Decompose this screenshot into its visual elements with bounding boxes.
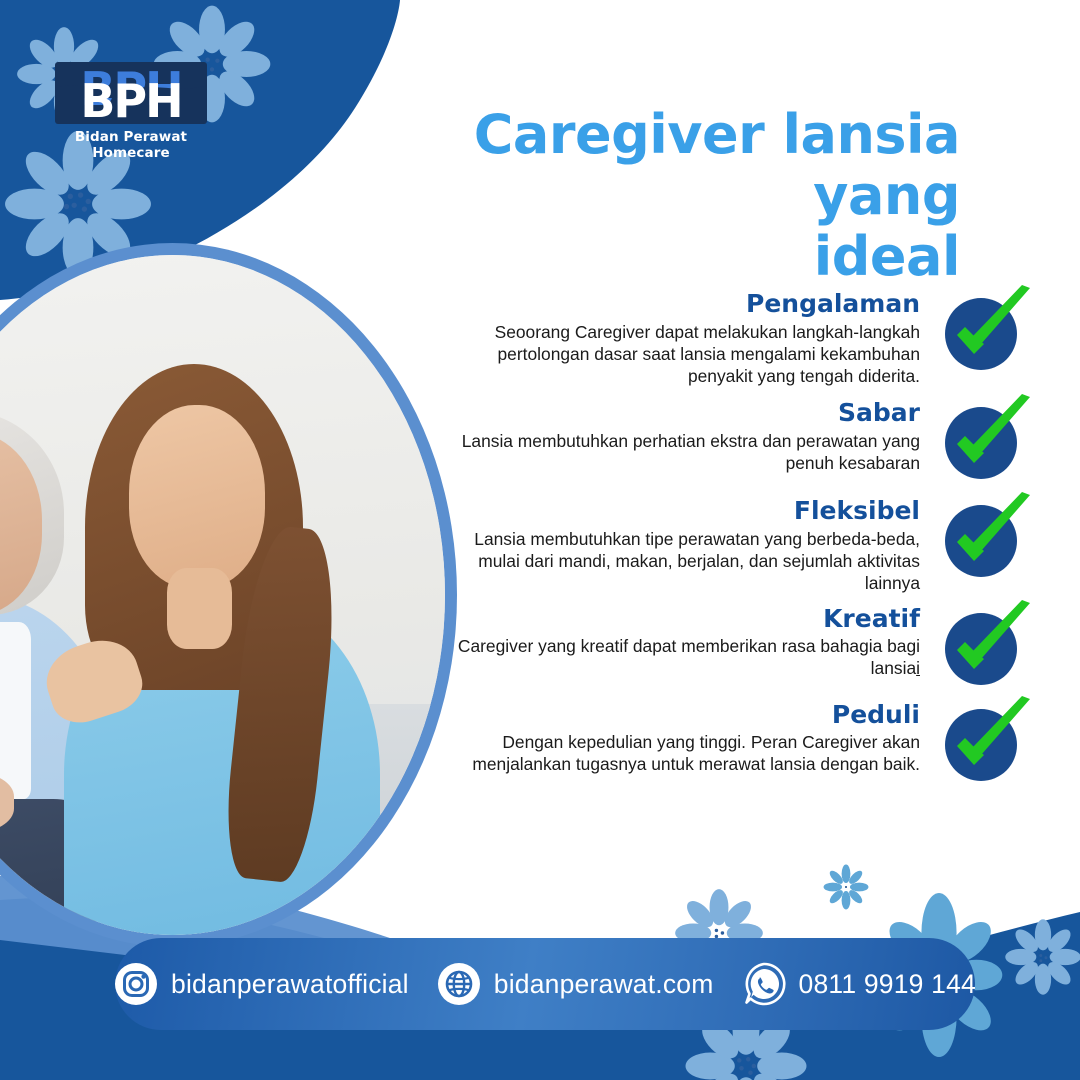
- item-title: Kreatif: [430, 605, 920, 633]
- page-title-line2: ideal: [340, 226, 960, 287]
- footer-whatsapp[interactable]: 0811 9919 144: [728, 962, 990, 1006]
- item-description: Caregiver yang kreatif dapat memberikan …: [430, 635, 920, 680]
- item-description: Seoorang Caregiver dapat melakukan langk…: [430, 321, 920, 388]
- item-description-main: Caregiver yang kreatif dapat memberikan …: [458, 636, 920, 678]
- item-title: Sabar: [430, 399, 920, 427]
- logo-text-bottom: BPH: [55, 78, 207, 124]
- flower-decoration-icon: [824, 865, 868, 909]
- item-description: Lansia membutuhkan tipe perawatan yang b…: [430, 528, 920, 595]
- list-item: Kreatif Caregiver yang kreatif dapat mem…: [430, 605, 1030, 687]
- check-badge-icon: [938, 697, 1030, 783]
- instagram-handle: bidanperawatofficial: [171, 969, 409, 1000]
- item-text: Kreatif Caregiver yang kreatif dapat mem…: [430, 605, 938, 680]
- list-item: Sabar Lansia membutuhkan perhatian ekstr…: [430, 399, 1030, 481]
- check-badge-icon: [938, 395, 1030, 481]
- whatsapp-icon: [742, 962, 786, 1006]
- check-badge-icon: [938, 601, 1030, 687]
- contact-footer-bar: bidanperawatofficial bidanperawat.com: [115, 938, 975, 1030]
- item-text: Fleksibel Lansia membutuhkan tipe perawa…: [430, 497, 938, 594]
- item-text: Pengalaman Seoorang Caregiver dapat mela…: [430, 290, 938, 387]
- logo-mark: BPH BPH: [55, 62, 207, 124]
- whatsapp-number: 0811 9919 144: [799, 969, 976, 1000]
- globe-icon: [437, 962, 481, 1006]
- item-description: Lansia membutuhkan perhatian ekstra dan …: [430, 430, 920, 475]
- check-badge-icon: [938, 286, 1030, 372]
- item-title: Fleksibel: [430, 497, 920, 525]
- feature-list: Pengalaman Seoorang Caregiver dapat mela…: [430, 290, 1030, 797]
- website-url: bidanperawat.com: [494, 969, 714, 1000]
- brand-logo: BPH BPH Bidan Perawat Homecare: [55, 62, 225, 161]
- item-text: Peduli Dengan kepedulian yang tinggi. Pe…: [430, 701, 938, 776]
- list-item: Pengalaman Seoorang Caregiver dapat mela…: [430, 290, 1030, 387]
- check-badge-icon: [938, 493, 1030, 579]
- item-title: Pengalaman: [430, 290, 920, 318]
- footer-website[interactable]: bidanperawat.com: [423, 962, 728, 1006]
- item-description-suffix: i: [916, 658, 920, 678]
- item-text: Sabar Lansia membutuhkan perhatian ekstr…: [430, 399, 938, 474]
- list-item: Fleksibel Lansia membutuhkan tipe perawa…: [430, 497, 1030, 594]
- photo-content: [0, 255, 445, 935]
- flower-decoration-icon: [1006, 920, 1080, 994]
- footer-instagram[interactable]: bidanperawatofficial: [100, 962, 423, 1006]
- logo-subtitle: Bidan Perawat Homecare: [55, 129, 207, 161]
- page-title: Caregiver lansia yang ideal: [340, 104, 960, 287]
- item-description: Dengan kepedulian yang tinggi. Peran Car…: [430, 731, 920, 776]
- item-title: Peduli: [430, 701, 920, 729]
- list-item: Peduli Dengan kepedulian yang tinggi. Pe…: [430, 701, 1030, 783]
- instagram-icon: [114, 962, 158, 1006]
- caregiver-photo: [0, 255, 445, 935]
- page-title-line1: Caregiver lansia yang: [340, 104, 960, 226]
- infographic-poster: BPH BPH Bidan Perawat Homecare Caregiver…: [0, 0, 1080, 1080]
